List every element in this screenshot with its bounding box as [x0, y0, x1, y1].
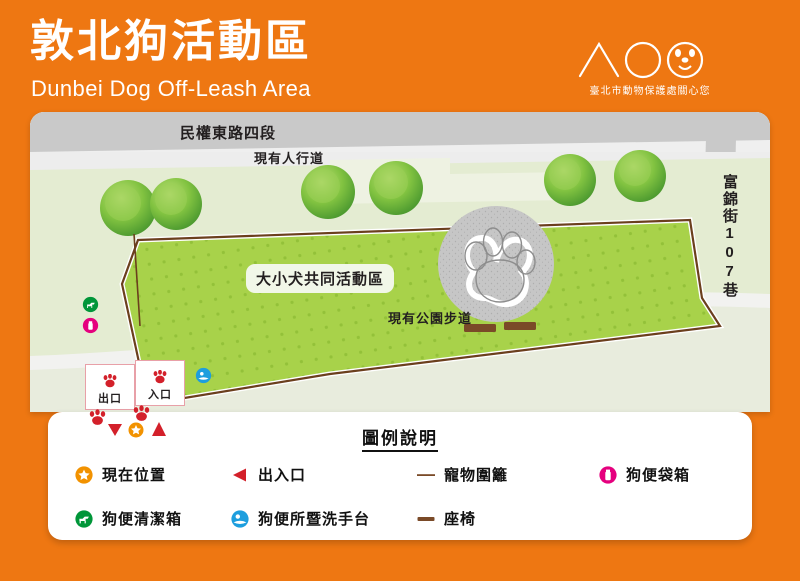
apo-logo: 臺北市動物保護處關心您 — [575, 38, 725, 104]
map-poop-bag-box-icon — [82, 317, 99, 334]
poop-bag-box-icon — [598, 465, 618, 485]
map-gate-entrance: 入口 — [135, 360, 185, 406]
red-paw-icon — [134, 405, 149, 421]
legend-label: 出入口 — [258, 464, 306, 485]
page-title-en: Dunbei Dog Off-Leash Area — [31, 76, 311, 102]
legend-label: 現在位置 — [102, 464, 166, 485]
legend-label: 狗便所暨洗手台 — [258, 508, 370, 529]
page-title-zh: 敦北狗活動區 — [30, 16, 312, 68]
dog-toilet-washbasin-icon — [230, 509, 250, 529]
legend-item-dog-waste-bin: 狗便清潔箱 — [74, 508, 182, 529]
map-label-dog-zone: 大小犬共同活動區 — [246, 264, 394, 293]
apo-logo-mark-icon — [575, 38, 725, 80]
legend-label: 座椅 — [444, 508, 476, 529]
map-label-sidewalk: 現有人行道 — [254, 148, 324, 167]
map-card: 民權東路四段 現有人行道 現有公園步道 大小犬共同活動區 富錦街107巷 — [30, 112, 770, 412]
map-gate-entrance-label: 入口 — [136, 386, 184, 402]
legend-item-entrance-exit: 出入口 — [230, 464, 306, 485]
current-location-star-icon — [74, 465, 94, 485]
legend-item-current-location: 現在位置 — [74, 464, 166, 485]
map-label-street-east: 富錦街107巷 — [714, 174, 744, 299]
poster-root: 敦北狗活動區 Dunbei Dog Off-Leash Area 臺北市動物保護… — [0, 0, 800, 581]
legend-item-dog-toilet-washbasin: 狗便所暨洗手台 — [230, 508, 370, 529]
poster-header: 敦北狗活動區 Dunbei Dog Off-Leash Area 臺北市動物保護… — [0, 0, 800, 112]
legend-item-poop-bag-box: 狗便袋箱 — [598, 464, 690, 485]
legend-label: 狗便清潔箱 — [102, 508, 182, 529]
legend-panel: 圖例說明 現在位置 出入口 寵物圍籬 — [48, 412, 752, 540]
pet-fence-line-icon — [416, 465, 436, 485]
red-paw-icon — [103, 374, 118, 388]
entrance-exit-triangle-icon — [230, 465, 250, 485]
red-paw-icon — [153, 370, 168, 384]
map-label-park-path: 現有公園步道 — [388, 308, 472, 327]
map-label-road-north: 民權東路四段 — [180, 122, 276, 143]
dog-waste-bin-icon — [74, 509, 94, 529]
red-paw-icon — [90, 409, 105, 425]
legend-item-bench: 座椅 — [416, 508, 476, 529]
legend-title-text: 圖例說明 — [362, 429, 438, 452]
legend-label: 寵物圍籬 — [444, 464, 508, 485]
map-dog-toilet-washbasin-icon — [195, 367, 212, 384]
apo-logo-caption: 臺北市動物保護處關心您 — [575, 82, 725, 97]
map-dog-waste-bin-icon — [82, 296, 99, 313]
legend-item-pet-fence: 寵物圍籬 — [416, 464, 508, 485]
legend-label: 狗便袋箱 — [626, 464, 690, 485]
legend-title: 圖例說明 — [48, 424, 752, 449]
bench-icon — [416, 509, 436, 529]
